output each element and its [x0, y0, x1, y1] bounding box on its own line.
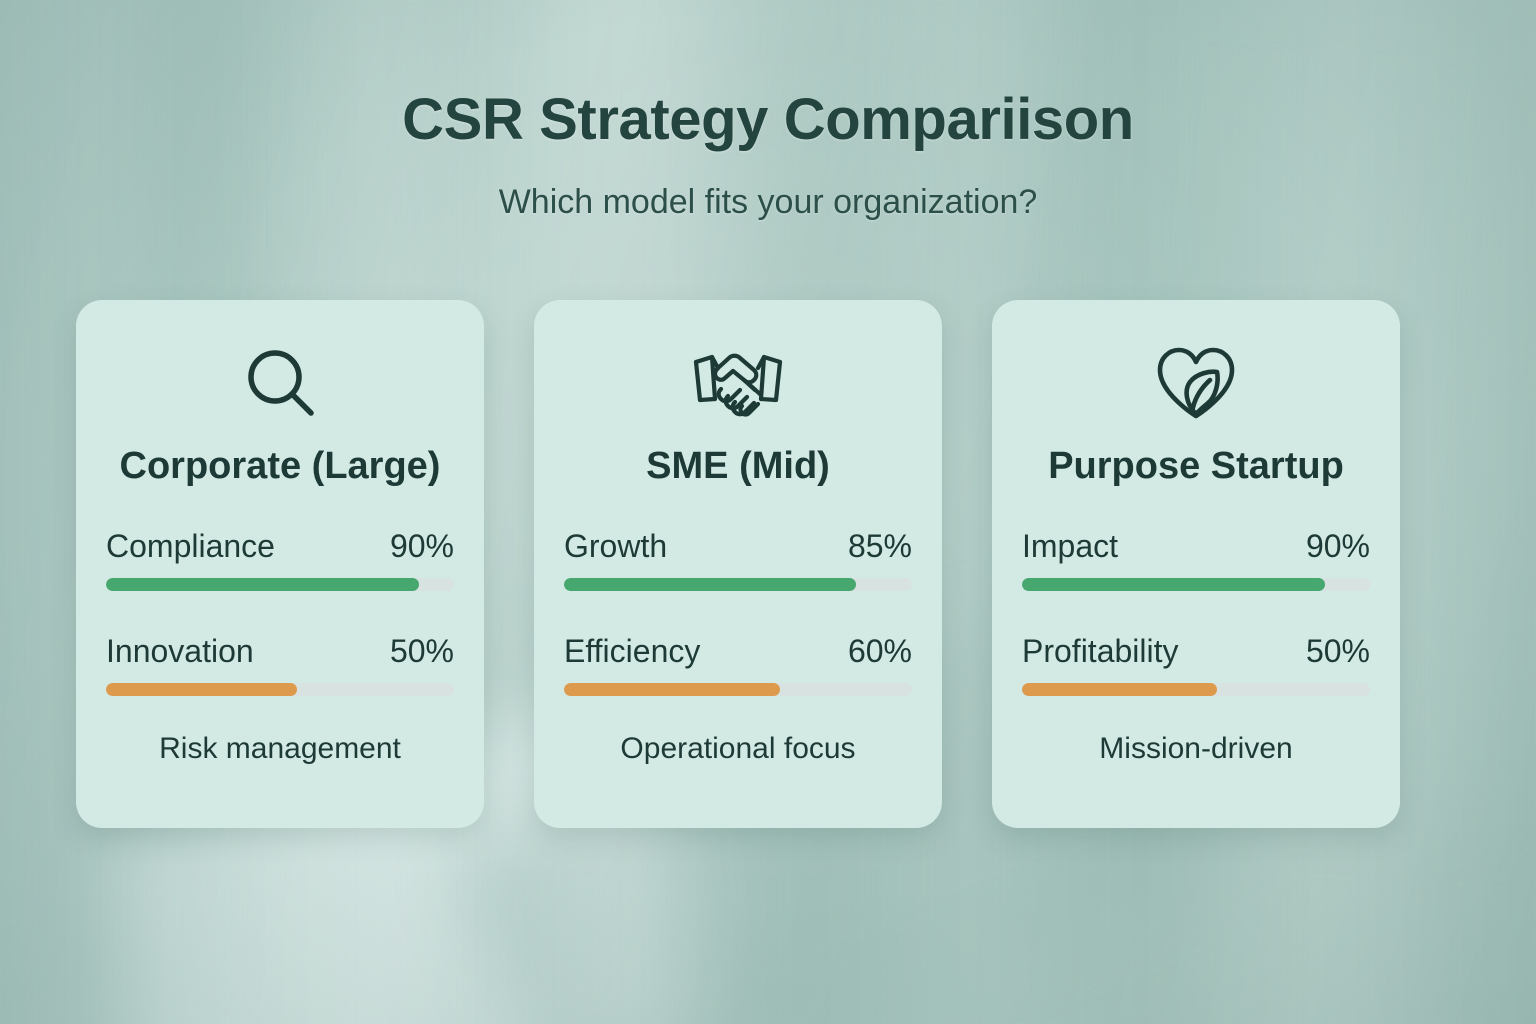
metric-value: 90%	[390, 528, 454, 565]
page-title: CSR Strategy Compariison	[0, 86, 1536, 153]
progress-track	[1022, 683, 1370, 696]
progress-fill	[564, 578, 856, 591]
comparison-cards: Corporate (Large) Compliance 90% Innovat…	[76, 300, 1400, 828]
card-purpose-startup[interactable]: Purpose Startup Impact 90% Profitability…	[992, 300, 1400, 828]
metric-label: Growth	[564, 528, 667, 565]
metric-label: Impact	[1022, 528, 1118, 565]
card-sme-mid[interactable]: SME (Mid) Growth 85% Efficiency 60%	[534, 300, 942, 828]
metric-list: Impact 90% Profitability 50%	[1022, 528, 1370, 696]
metric-value: 50%	[1306, 633, 1370, 670]
progress-track	[106, 683, 454, 696]
card-corporate-large[interactable]: Corporate (Large) Compliance 90% Innovat…	[76, 300, 484, 828]
metric-label: Compliance	[106, 528, 275, 565]
progress-track	[106, 578, 454, 591]
heart-leaf-icon	[1150, 338, 1242, 430]
metric-item: Growth 85%	[564, 528, 912, 591]
magnifier-icon	[238, 338, 322, 430]
metric-list: Growth 85% Efficiency 60%	[564, 528, 912, 696]
card-title: Corporate (Large)	[120, 446, 441, 488]
page-subtitle: Which model fits your organization?	[0, 183, 1536, 222]
progress-fill	[106, 578, 419, 591]
metric-item: Innovation 50%	[106, 633, 454, 696]
card-footer: Operational focus	[620, 732, 855, 766]
metric-item: Efficiency 60%	[564, 633, 912, 696]
card-footer: Risk management	[159, 732, 401, 766]
metric-item: Impact 90%	[1022, 528, 1370, 591]
card-title: SME (Mid)	[646, 446, 830, 488]
card-title: Purpose Startup	[1048, 446, 1344, 488]
metric-label: Efficiency	[564, 633, 700, 670]
metric-value: 50%	[390, 633, 454, 670]
progress-fill	[564, 683, 780, 696]
metric-label: Profitability	[1022, 633, 1179, 670]
progress-fill	[106, 683, 297, 696]
metric-label: Innovation	[106, 633, 254, 670]
metric-value: 85%	[848, 528, 912, 565]
progress-fill	[1022, 578, 1325, 591]
progress-fill	[1022, 683, 1217, 696]
metric-value: 90%	[1306, 528, 1370, 565]
handshake-icon	[688, 338, 788, 430]
card-footer: Mission-driven	[1099, 732, 1292, 766]
metric-item: Compliance 90%	[106, 528, 454, 591]
progress-track	[1022, 578, 1370, 591]
metric-item: Profitability 50%	[1022, 633, 1370, 696]
progress-track	[564, 578, 912, 591]
progress-track	[564, 683, 912, 696]
metric-list: Compliance 90% Innovation 50%	[106, 528, 454, 696]
metric-value: 60%	[848, 633, 912, 670]
